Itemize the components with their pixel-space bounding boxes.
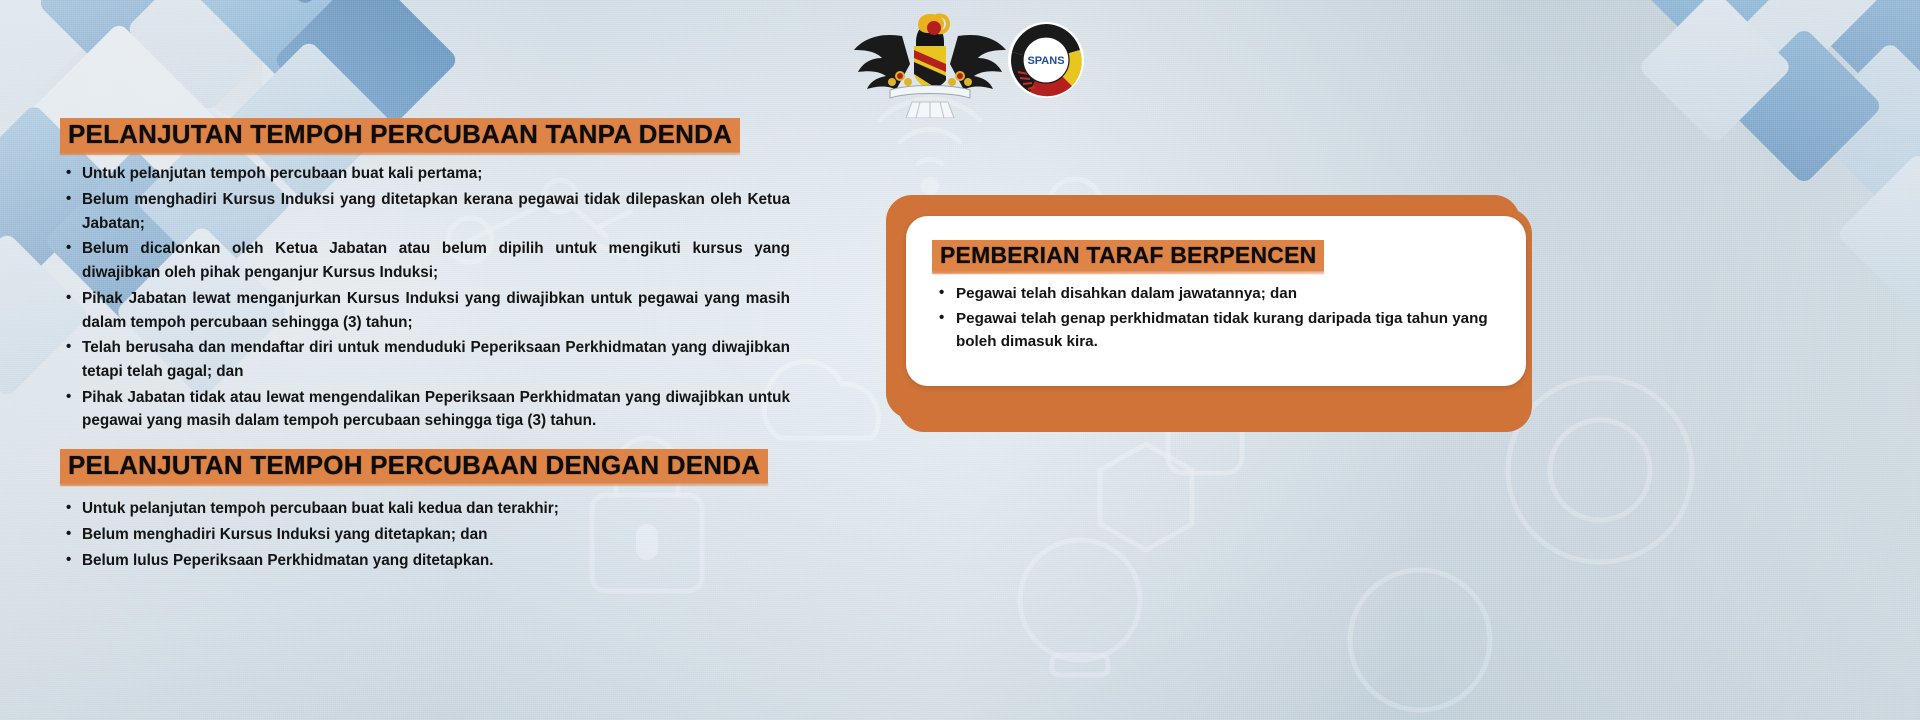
list-item: Pihak Jabatan tidak atau lewat mengendal… — [60, 386, 790, 433]
list-item: Untuk pelanjutan tempoh percubaan buat k… — [60, 162, 790, 186]
spans-logo: SPANS — [1008, 22, 1084, 98]
section-heading-1: PELANJUTAN TEMPOH PERCUBAAN TANPA DENDA — [60, 118, 740, 152]
section-heading-2-wrap: PELANJUTAN TEMPOH PERCUBAAN DENGAN DENDA — [60, 449, 768, 483]
section-heading-1-wrap: PELANJUTAN TEMPOH PERCUBAAN TANPA DENDA — [60, 118, 740, 152]
panel-card: PEMBERIAN TARAF BERPENCEN Pegawai telah … — [906, 216, 1526, 386]
logo-group: SPANS — [850, 6, 1090, 118]
spans-logo-text: SPANS — [1027, 55, 1064, 67]
left-content-column: PELANJUTAN TEMPOH PERCUBAAN TANPA DENDA … — [60, 118, 790, 574]
list-item: Belum lulus Peperiksaan Perkhidmatan yan… — [60, 549, 790, 573]
list-item: Telah berusaha dan mendaftar diri untuk … — [60, 336, 790, 383]
list-item: Pegawai telah genap perkhidmatan tidak k… — [932, 308, 1500, 354]
list-item: Pihak Jabatan lewat menganjurkan Kursus … — [60, 287, 790, 334]
logo-svg: SPANS — [850, 6, 1090, 118]
section-1-bullet-list: Untuk pelanjutan tempoh percubaan buat k… — [60, 162, 790, 433]
list-item: Belum menghadiri Kursus Induksi yang dit… — [60, 188, 790, 235]
list-item: Pegawai telah disahkan dalam jawatannya;… — [932, 283, 1500, 306]
panel-heading: PEMBERIAN TARAF BERPENCEN — [932, 240, 1324, 271]
list-item: Belum dicalonkan oleh Ketua Jabatan atau… — [60, 237, 790, 284]
list-item: Untuk pelanjutan tempoh percubaan buat k… — [60, 497, 790, 521]
sarawak-state-crest — [854, 14, 1006, 118]
right-panel: PEMBERIAN TARAF BERPENCEN Pegawai telah … — [886, 195, 1526, 425]
section-heading-2: PELANJUTAN TEMPOH PERCUBAAN DENGAN DENDA — [60, 449, 768, 483]
poster-canvas: SPANS PELANJUTAN TEMPOH PERCUBAAN TANPA … — [0, 0, 1920, 720]
list-item: Belum menghadiri Kursus Induksi yang dit… — [60, 523, 790, 547]
section-2-bullet-list: Untuk pelanjutan tempoh percubaan buat k… — [60, 497, 790, 572]
panel-heading-wrap: PEMBERIAN TARAF BERPENCEN — [932, 240, 1324, 271]
panel-bullet-list: Pegawai telah disahkan dalam jawatannya;… — [932, 283, 1500, 353]
